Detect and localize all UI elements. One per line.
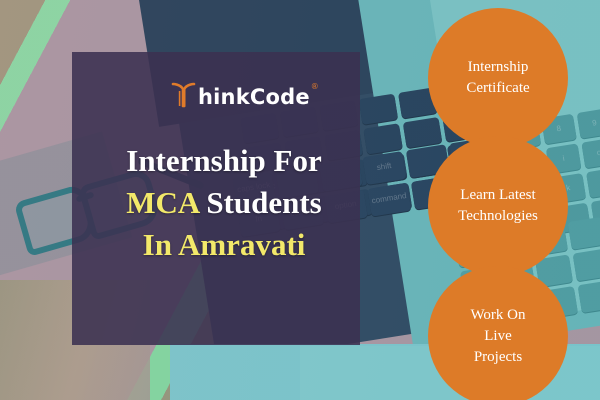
- feature-circle-work-on-live-projects[interactable]: Work On Live Projects: [428, 266, 568, 400]
- thinkcode-t-icon: [170, 78, 200, 108]
- brand-logo[interactable]: hinkCode ®: [170, 78, 319, 108]
- keyboard-key: [568, 217, 600, 250]
- feature-circle-3-line-3: Projects: [470, 347, 525, 368]
- feature-circle-2-line-1: Learn Latest: [458, 185, 538, 206]
- feature-circle-1-line-1: Internship: [466, 57, 529, 78]
- poster-canvas: esctab caps lockshiftfncontroloptioncomm…: [0, 0, 600, 400]
- headline-line-1: Internship For: [88, 140, 360, 182]
- feature-circle-learn-latest-technologies[interactable]: Learn Latest Technologies: [428, 136, 568, 276]
- headline-accent-mca: MCA: [126, 185, 198, 220]
- feature-circle-3-text: Work On Live Projects: [460, 305, 535, 368]
- keyboard-key: [573, 248, 600, 281]
- headline-block: Internship For MCA Students In Amravati: [88, 140, 388, 266]
- headline-line-1-text: Internship For: [126, 143, 322, 178]
- headline-line-3-text: In Amravati: [143, 227, 306, 262]
- keyboard-key: [359, 94, 399, 125]
- feature-circle-internship-certificate[interactable]: Internship Certificate: [428, 8, 568, 148]
- keyboard-key: o: [581, 138, 600, 169]
- headline-line-2-text: Students: [206, 185, 321, 220]
- feature-circle-3-line-1: Work On: [470, 305, 525, 326]
- keyboard-key: 9: [577, 108, 600, 139]
- feature-circle-3-line-2: Live: [470, 326, 525, 347]
- feature-circle-1-line-2: Certificate: [466, 78, 529, 99]
- feature-circle-2-text: Learn Latest Technologies: [448, 185, 548, 227]
- keyboard-key: l: [586, 167, 600, 198]
- keyboard-key: [403, 117, 443, 148]
- keyboard-key: [578, 280, 600, 313]
- headline-line-3: In Amravati: [88, 224, 360, 266]
- registered-trademark-icon: ®: [311, 82, 319, 92]
- brand-logo-text: hinkCode: [198, 87, 310, 108]
- feature-circle-2-line-2: Technologies: [458, 206, 538, 227]
- headline-line-2: MCA Students: [88, 182, 360, 224]
- feature-circle-1-text: Internship Certificate: [456, 57, 539, 99]
